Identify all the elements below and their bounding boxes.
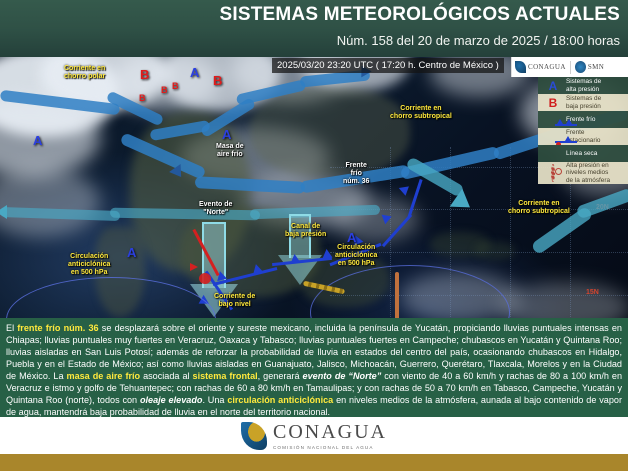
- annotation-polar-jet: Corriente en chorro polar: [64, 65, 105, 81]
- pressure-label-a: A: [222, 127, 231, 142]
- legend-label-mid-level-high: Alta presión en niveles medios de la atm…: [566, 162, 610, 184]
- legend-label-dry-line: Línea seca: [566, 150, 597, 157]
- low-pressure-b-icon: B: [540, 97, 566, 109]
- page-title: SISTEMAS METEOROLÓGICOS ACTUALES: [220, 4, 621, 26]
- legend-label-low-pressure: Sistemas de baja presión: [566, 95, 601, 110]
- pressure-label-b: B: [172, 81, 179, 91]
- pressure-label-a: A: [190, 65, 199, 80]
- annotation-cold-front-36: Frente frío núm. 36: [343, 162, 369, 186]
- page-header: SISTEMAS METEOROLÓGICOS ACTUALES Núm. 15…: [0, 0, 628, 57]
- grid-label-15n: 15N: [586, 289, 599, 296]
- pressure-label-b: B: [161, 85, 168, 95]
- weather-bulletin-page: SISTEMAS METEOROLÓGICOS ACTUALES Núm. 15…: [0, 0, 628, 471]
- satellite-timestamp: 2025/03/20 23:20 UTC ( 17:20 h. Centro d…: [272, 58, 504, 73]
- footer-gold-bar: [0, 454, 628, 471]
- footer-org-name: CONAGUA: [273, 421, 387, 443]
- annotation-low-trough: Canal de baja presión: [285, 223, 326, 239]
- smn-logo-text: SMN: [588, 63, 604, 71]
- annotation-norte-event: Evento de "Norte": [199, 201, 232, 217]
- annotation-cold-air-mass: Masa de aire frío: [216, 143, 244, 159]
- smn-logo-icon: [575, 61, 586, 73]
- mid-level-high-icon: [540, 167, 566, 179]
- header-logo-strip: CONAGUA SMN: [511, 57, 628, 77]
- pressure-label-a: A: [347, 230, 356, 245]
- bulletin-number-and-date: Núm. 158 del 20 de marzo de 2025 / 18:00…: [337, 33, 620, 48]
- conagua-footer-text: CONAGUA COMISIÓN NACIONAL DEL AGUA: [273, 421, 387, 450]
- map-legend: A Sistemas de alta presión B Sistemas de…: [538, 77, 628, 184]
- annotation-anticyclone-pacific: Circulación anticiclónica en 500 hPa: [68, 253, 110, 277]
- pressure-label-b: B: [213, 73, 222, 88]
- smn-logo: SMN: [575, 61, 604, 73]
- pressure-label-b: B: [140, 67, 149, 82]
- pressure-label-b: B: [139, 93, 146, 103]
- pressure-label-a: A: [127, 245, 136, 260]
- page-footer: CONAGUA COMISIÓN NACIONAL DEL AGUA: [0, 417, 628, 454]
- dry-line-icon: [540, 148, 566, 160]
- satellite-map[interactable]: 25N 20N 15N: [0, 57, 628, 318]
- trough-line: [395, 272, 399, 318]
- legend-item-cold-front: Frente frío: [538, 111, 628, 128]
- legend-item-mid-level-high: Alta presión en niveles medios de la atm…: [538, 162, 628, 184]
- legend-item-dry-line: Línea seca: [538, 145, 628, 162]
- conagua-footer-logo-icon: [241, 422, 267, 450]
- annotation-subtropical-jet-1: Corriente en chorro subtropical: [390, 105, 452, 121]
- forecast-text-block: El frente frío núm. 36 se desplazará sob…: [0, 318, 628, 417]
- legend-item-high-pressure: A Sistemas de alta presión: [538, 77, 628, 94]
- footer-org-tagline: COMISIÓN NACIONAL DEL AGUA: [273, 445, 387, 450]
- annotation-low-level-current: Corriente de bajo nivel: [214, 293, 255, 309]
- pressure-label-a: A: [33, 133, 42, 148]
- conagua-logo-icon: [515, 61, 526, 73]
- logo-divider: [570, 61, 571, 74]
- conagua-logo-text: CONAGUA: [528, 63, 566, 71]
- conagua-logo: CONAGUA: [515, 61, 566, 73]
- anticyclonic-circulation-pacific: [6, 277, 216, 318]
- legend-label-high-pressure: Sistemas de alta presión: [566, 78, 601, 93]
- legend-item-low-pressure: B Sistemas de baja presión: [538, 94, 628, 111]
- annotation-anticyclone-atlantic: Circulación anticiclónica en 500 hPa: [335, 244, 377, 268]
- legend-item-stationary-front: Frente estacionario: [538, 128, 628, 145]
- high-pressure-a-icon: A: [540, 80, 566, 92]
- forecast-paragraph: El frente frío núm. 36 se desplazará sob…: [6, 322, 622, 418]
- annotation-subtropical-jet-2: Corriente en chorro subtropical: [508, 200, 570, 216]
